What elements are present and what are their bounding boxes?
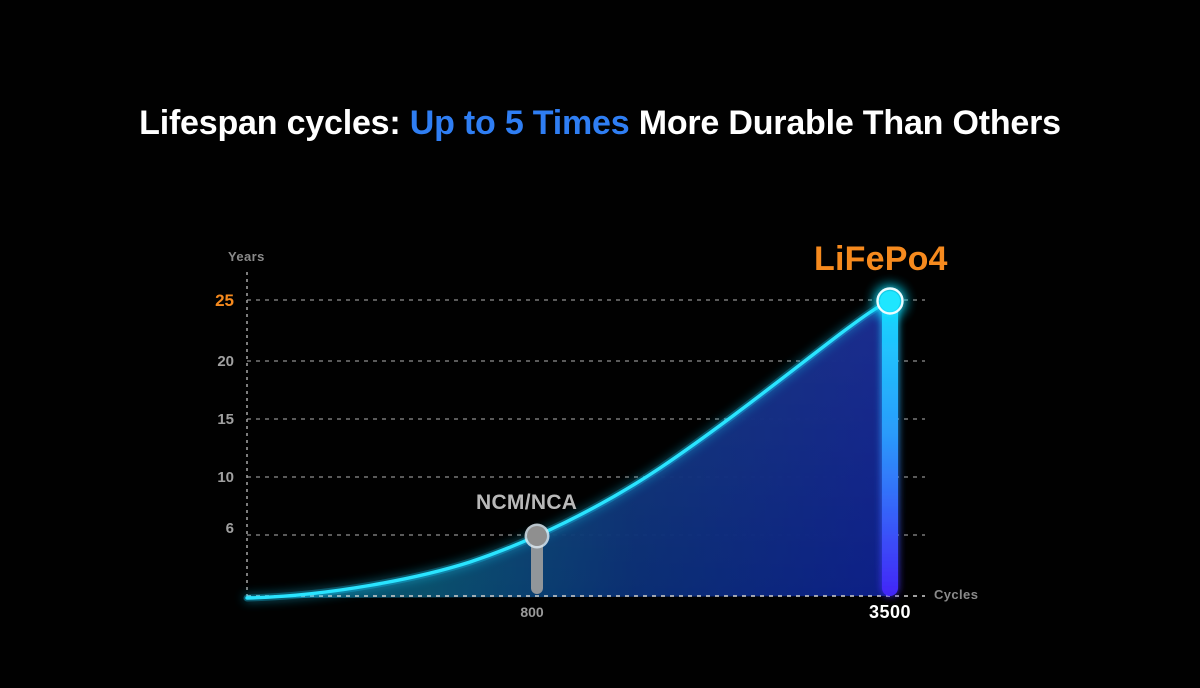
y-tick-15: 15 xyxy=(178,411,234,428)
lifepo4-marker-dot xyxy=(880,291,900,311)
annotation-lifepo4-label: LiFePo4 xyxy=(814,240,948,279)
annotation-ncm-nca-label: NCM/NCA xyxy=(476,491,577,515)
y-axis-title: Years xyxy=(228,249,265,264)
lifepo4-bar xyxy=(882,300,898,596)
y-tick-10: 10 xyxy=(178,469,234,486)
y-tick-25: 25 xyxy=(178,291,234,311)
lifespan-chart xyxy=(0,0,1200,688)
ncm-nca-marker-dot xyxy=(527,526,547,546)
y-tick-6: 6 xyxy=(178,520,234,537)
x-axis-title: Cycles xyxy=(934,587,978,602)
chart-canvas: Lifespan cycles: Up to 5 Times More Dura… xyxy=(0,0,1200,688)
y-tick-20: 20 xyxy=(178,353,234,370)
area-fill-sheen xyxy=(247,301,890,598)
x-tick-3500: 3500 xyxy=(845,602,935,623)
x-tick-800: 800 xyxy=(492,604,572,620)
